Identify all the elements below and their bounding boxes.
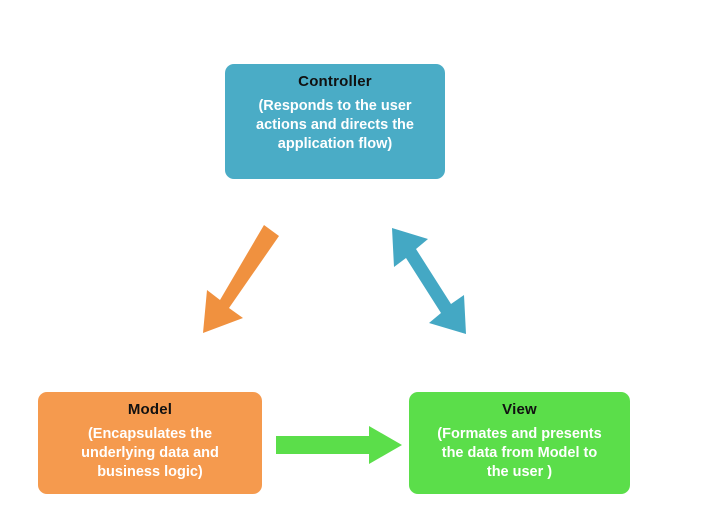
arrow-view-to-controller-shape xyxy=(392,228,466,334)
node-controller-description: (Responds to the user actions and direct… xyxy=(250,97,420,154)
node-view[interactable]: View (Formates and presents the data fro… xyxy=(409,392,630,494)
node-controller-title: Controller xyxy=(298,73,372,92)
node-controller[interactable]: Controller (Responds to the user actions… xyxy=(225,64,445,179)
arrow-view-to-controller-icon xyxy=(380,215,480,350)
node-model-title: Model xyxy=(128,401,172,420)
arrow-controller-to-model-shape xyxy=(203,225,279,333)
node-model-description: (Encapsulates the underlying data and bu… xyxy=(73,425,227,482)
node-view-description: (Formates and presents the data from Mod… xyxy=(429,425,609,482)
mvc-diagram-canvas: Controller (Responds to the user actions… xyxy=(0,0,718,517)
node-view-title: View xyxy=(502,401,537,420)
arrow-model-to-view-shape xyxy=(276,426,402,464)
arrow-controller-to-model-icon xyxy=(195,215,305,350)
arrow-model-to-view-icon xyxy=(272,424,406,466)
node-model[interactable]: Model (Encapsulates the underlying data … xyxy=(38,392,262,494)
